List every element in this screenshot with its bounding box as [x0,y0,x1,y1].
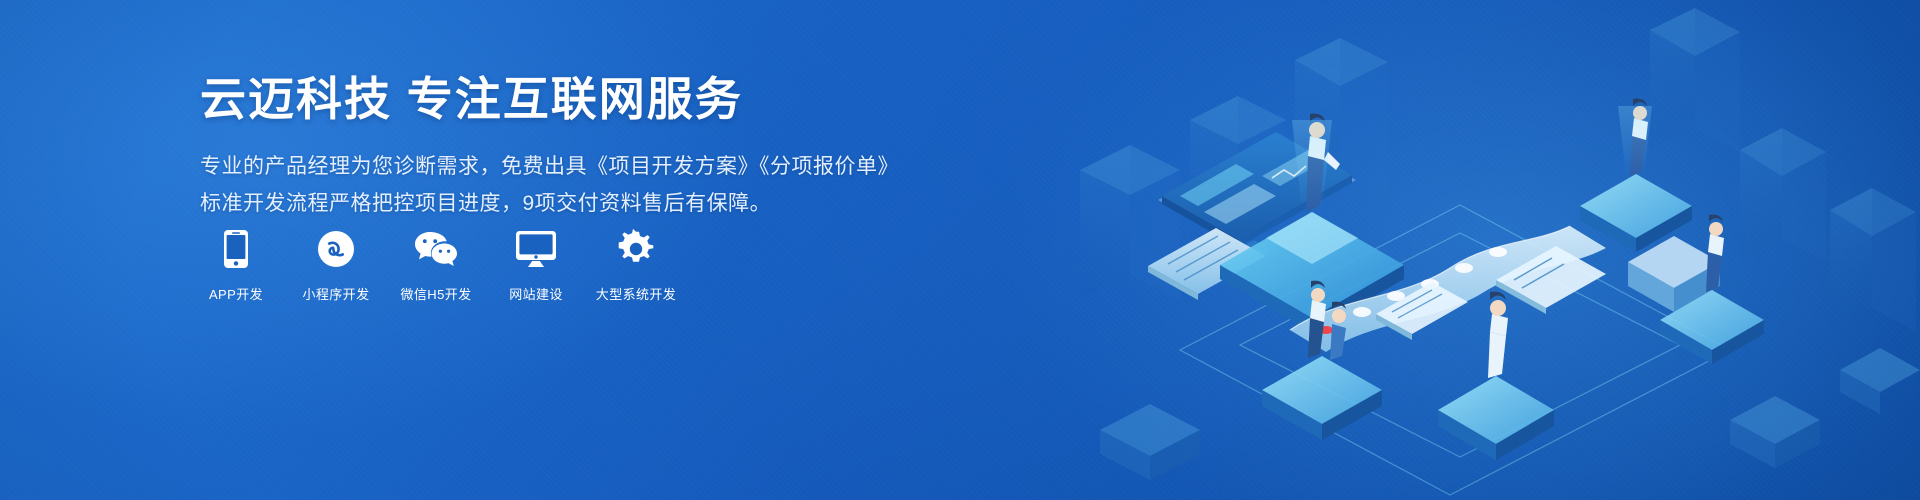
front-left-platform [1262,356,1382,440]
service-item-website[interactable]: 网站建设 [500,228,572,303]
service-label: 微信H5开发 [400,284,471,303]
service-list: APP开发 小程序开发 [200,228,672,303]
service-item-system[interactable]: 大型系统开发 [600,228,672,303]
gear-icon [616,228,656,270]
subtitle-line-2: 标准开发流程严格把控项目进度，9项交付资料售后有保障。 [200,186,980,223]
isometric-illustration [1040,0,1920,500]
front-centre-platform [1438,376,1554,460]
service-label: APP开发 [209,284,263,303]
banner-subtitle: 专业的产品经理为您诊断需求，免费出具《项目开发方案》《分项报价单》 标准开发流程… [200,149,980,223]
service-item-miniprogram[interactable]: 小程序开发 [300,228,372,303]
service-label: 网站建设 [509,284,563,303]
subtitle-line-1: 专业的产品经理为您诊断需求，免费出具《项目开发方案》《分项报价单》 [200,149,980,186]
service-item-wechat[interactable]: 微信H5开发 [400,228,472,303]
service-label: 大型系统开发 [596,284,676,303]
mobile-phone-icon [223,228,249,270]
service-item-app[interactable]: APP开发 [200,228,272,303]
mini-program-icon [317,228,355,270]
banner-copy: 云迈科技 专注互联网服务 专业的产品经理为您诊断需求，免费出具《项目开发方案》《… [200,72,980,223]
wechat-icon [414,228,458,270]
service-label: 小程序开发 [302,284,369,303]
person-lower-right [1706,215,1724,292]
person-front-centre [1488,292,1508,378]
page-title: 云迈科技 专注互联网服务 [200,72,980,127]
monitor-icon [515,228,557,270]
hero-banner: 云迈科技 专注互联网服务 专业的产品经理为您诊断需求，免费出具《项目开发方案》《… [0,0,1920,500]
